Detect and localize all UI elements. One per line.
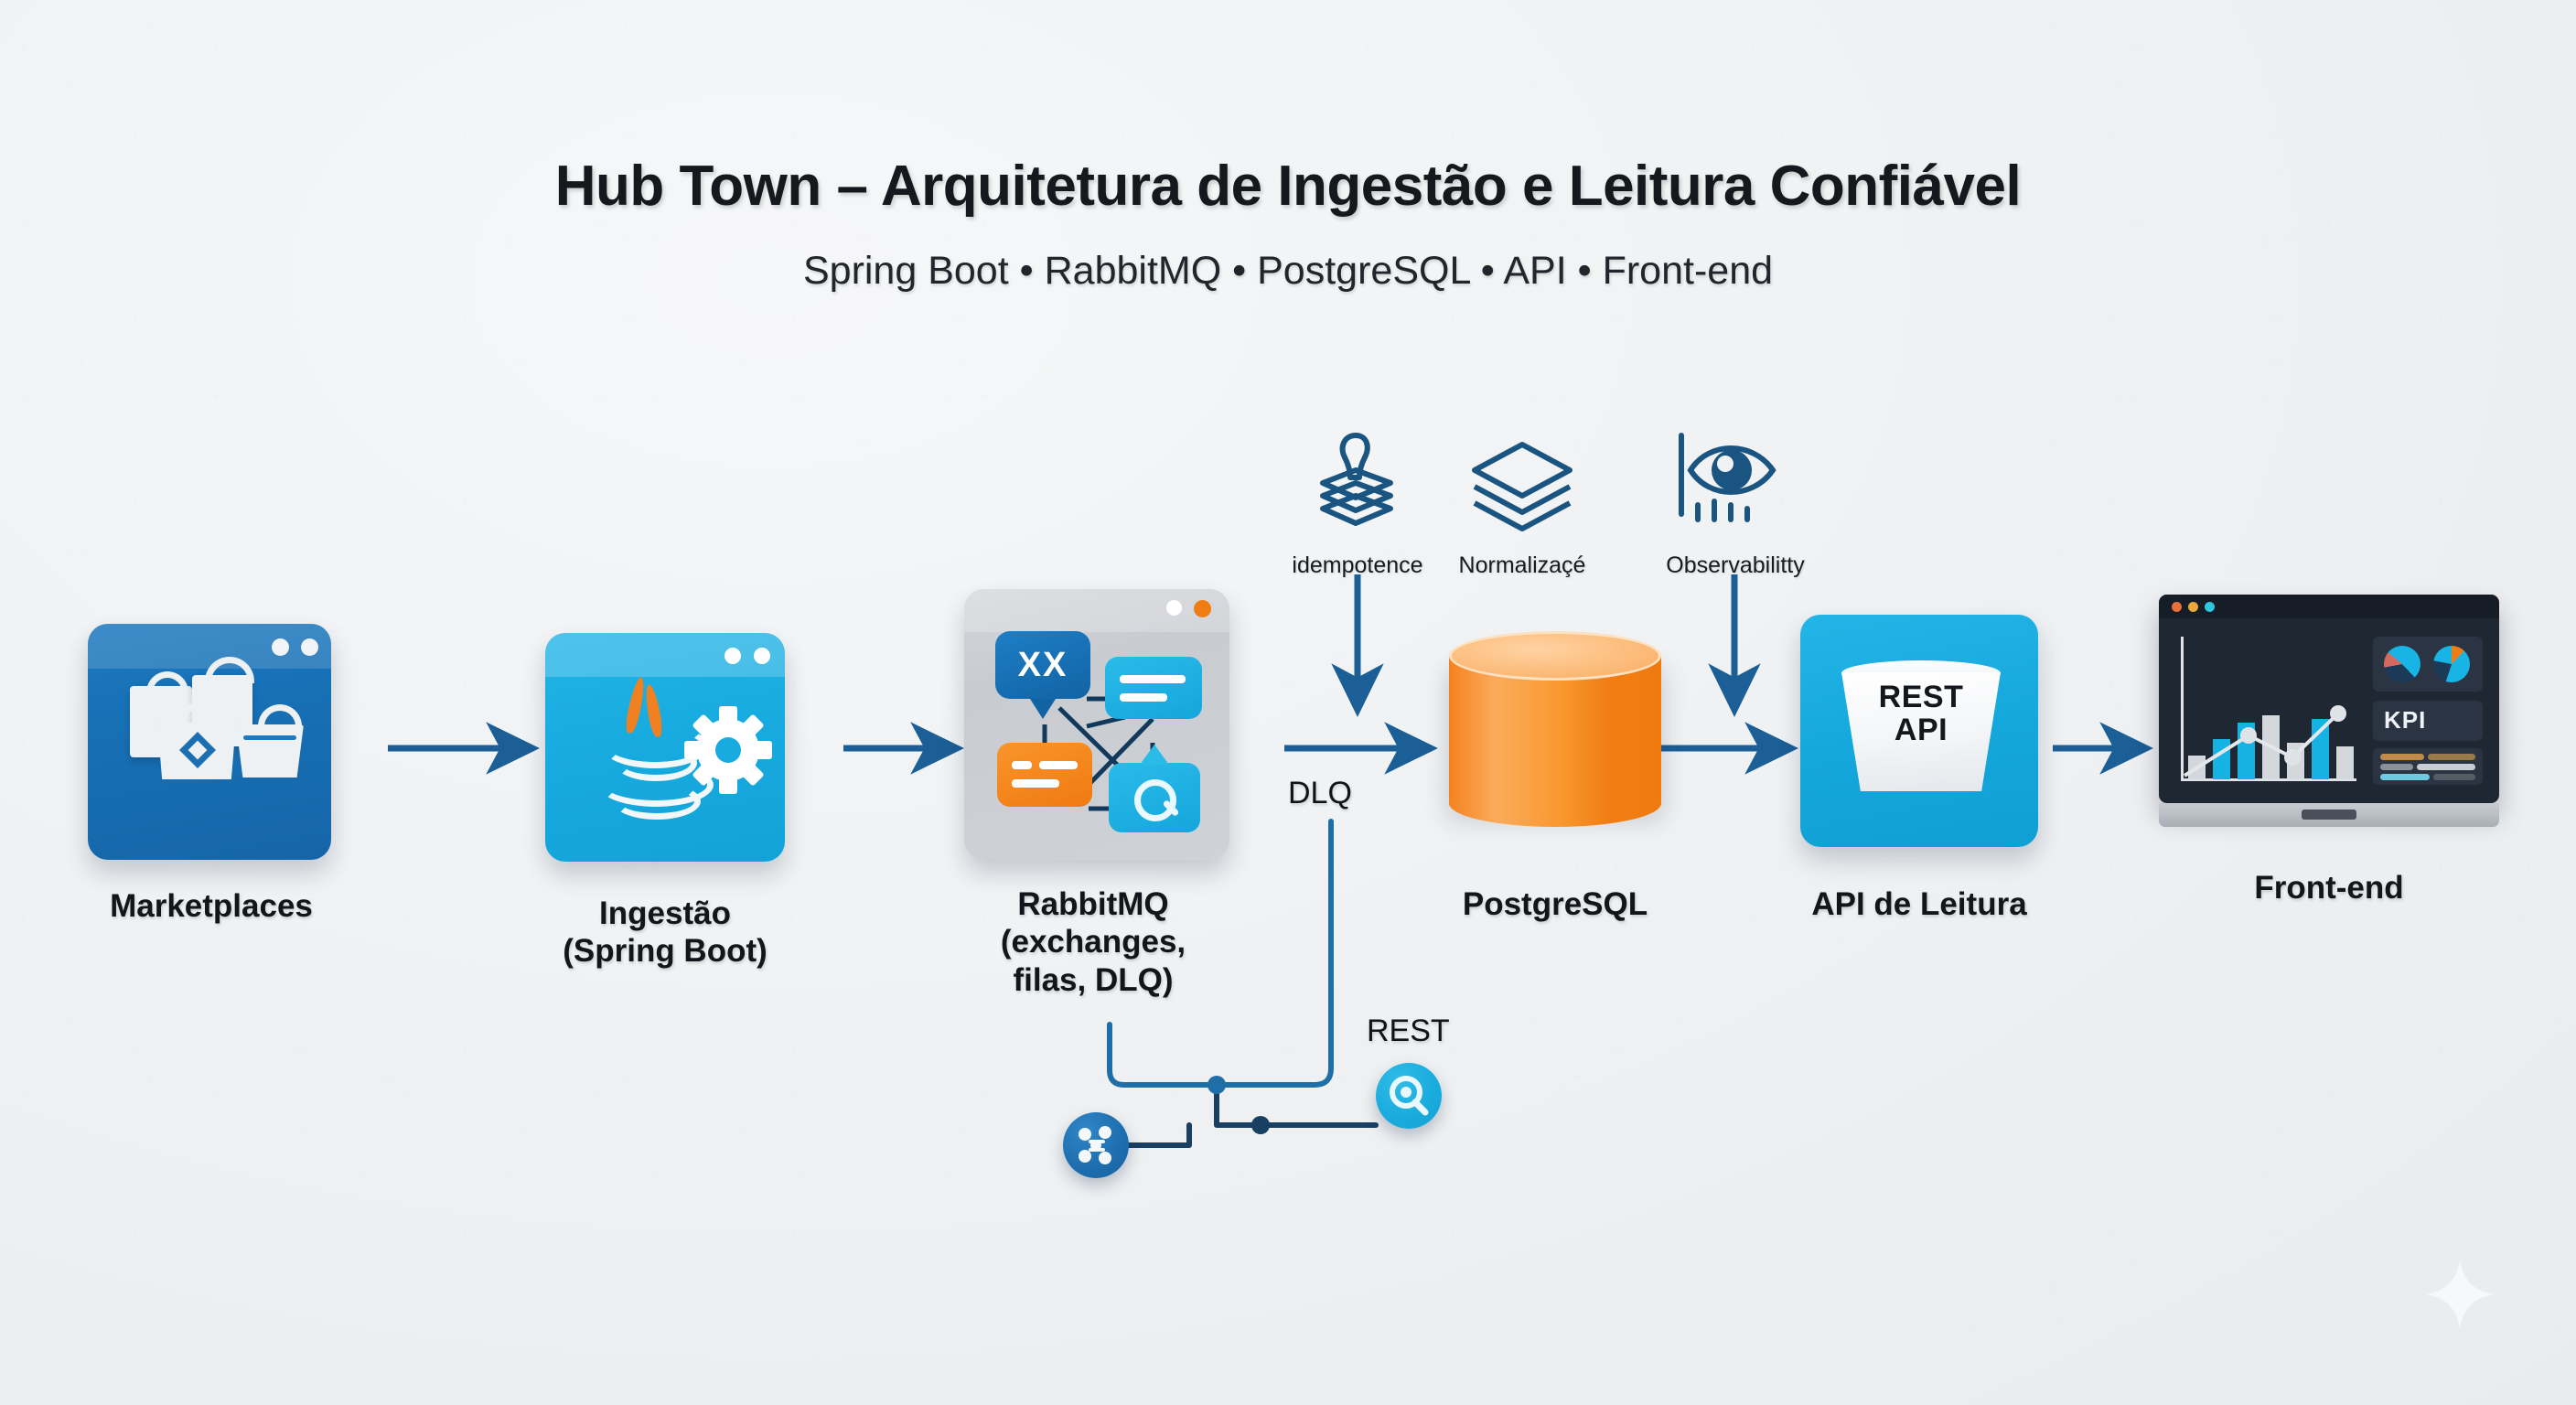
page-title: Hub Town – Arquitetura de Ingestão e Lei… [0, 154, 2576, 219]
diagram-canvas: Hub Town – Arquitetura de Ingestão e Lei… [0, 0, 2576, 1405]
list-line-1 [2380, 754, 2424, 760]
gear-tooth-s [719, 778, 737, 794]
queue-line-2 [1120, 693, 1167, 702]
queue-line-3 [1012, 761, 1032, 769]
search-badge [1109, 763, 1200, 832]
pie-chart-1 [2384, 646, 2420, 682]
window-titlebar [545, 633, 785, 677]
cluster-nodes-icon[interactable] [1063, 1112, 1129, 1178]
bag-right-line [243, 735, 296, 740]
layers-icon [1464, 437, 1581, 538]
gear-tooth-n [719, 706, 737, 723]
bucket-label-line2: API [1841, 714, 2001, 747]
page-subtitle: Spring Boot • RabbitMQ • PostgreSQL • AP… [0, 249, 2576, 294]
queue-box-orange [997, 743, 1092, 807]
shopping-bags-window-icon [88, 624, 331, 860]
queue-box-cyan [1105, 657, 1202, 719]
pie-panel [2373, 637, 2483, 692]
gear-tooth-e [756, 741, 772, 759]
database-cylinder-icon [1449, 631, 1661, 825]
dashboard-monitor-icon: KPI [2159, 595, 2499, 803]
java-wave-4 [613, 783, 701, 820]
junction-to-rest-path [1217, 1085, 1261, 1125]
list-line-4 [2417, 764, 2475, 770]
kpi-label: KPI [2373, 701, 2483, 735]
window-titlebar [88, 624, 331, 669]
message-bubble-xx: XX [995, 631, 1090, 699]
eye-chart-icon [1667, 426, 1793, 540]
list-line-6 [2433, 774, 2475, 780]
quality-label-observability: Observabilitty [1621, 552, 1850, 579]
cylinder-top [1449, 631, 1661, 681]
pie-chart-2 [2433, 646, 2470, 682]
node-label-ingestao: Ingestão (Spring Boot) [487, 895, 843, 971]
stamp-icon [1303, 426, 1412, 536]
window-dot-1 [272, 638, 289, 656]
list-line-5 [2380, 774, 2430, 780]
cylinder-bottom [1449, 779, 1661, 827]
magnifier-circle-icon[interactable] [1376, 1063, 1442, 1129]
quality-label-normalizacao: Normalizaçé [1412, 552, 1632, 579]
message-nodes-window-icon: XX [964, 589, 1229, 860]
list-line-2 [2428, 754, 2475, 760]
monitor-notch [2302, 810, 2356, 820]
junction-dot-upper [1207, 1076, 1226, 1094]
list-line-3 [2380, 764, 2413, 770]
edge-label-rest: REST [1367, 1014, 1450, 1049]
window-dot-2 [754, 648, 770, 664]
gear-hole [715, 737, 741, 763]
node-label-rabbitmq: RabbitMQ (exchanges, filas, DLQ) [896, 885, 1290, 999]
edge-label-dlq: DLQ [1288, 776, 1352, 811]
gear-tooth-w [684, 741, 701, 759]
node-label-marketplaces: Marketplaces [33, 887, 390, 925]
node-label-postgresql: PostgreSQL [1376, 885, 1734, 923]
sparkle-icon [2422, 1257, 2497, 1332]
queue-line-1 [1120, 675, 1186, 683]
shopping-bag-right [236, 724, 304, 778]
node-label-frontend: Front-end [2164, 869, 2494, 906]
queue-line-4 [1039, 761, 1078, 769]
magnifier-glyph [1376, 1063, 1442, 1129]
junction-dot-lower [1251, 1116, 1270, 1134]
queue-line-5 [1012, 779, 1059, 788]
bubble-tail [1030, 699, 1056, 719]
window-dot-2 [301, 638, 318, 656]
node-label-api: API de Leitura [1755, 885, 2084, 923]
bubble-label: XX [995, 631, 1090, 699]
rabbit-down-connector-path [1110, 1024, 1217, 1085]
java-gear-window-icon [545, 633, 785, 862]
magnifier-lens-icon [1134, 779, 1176, 821]
list-panel [2373, 748, 2483, 785]
shopping-bag-front [157, 723, 236, 779]
bucket-label: REST API [1841, 681, 2001, 746]
bucket-label-line1: REST [1841, 681, 2001, 714]
cluster-to-junction-path [1129, 1125, 1189, 1145]
badge-tail [1140, 745, 1169, 765]
cluster-glyph [1063, 1112, 1129, 1178]
bag-handle-right [258, 704, 302, 727]
window-dot-1 [724, 648, 741, 664]
kpi-panel: KPI [2373, 701, 2483, 741]
